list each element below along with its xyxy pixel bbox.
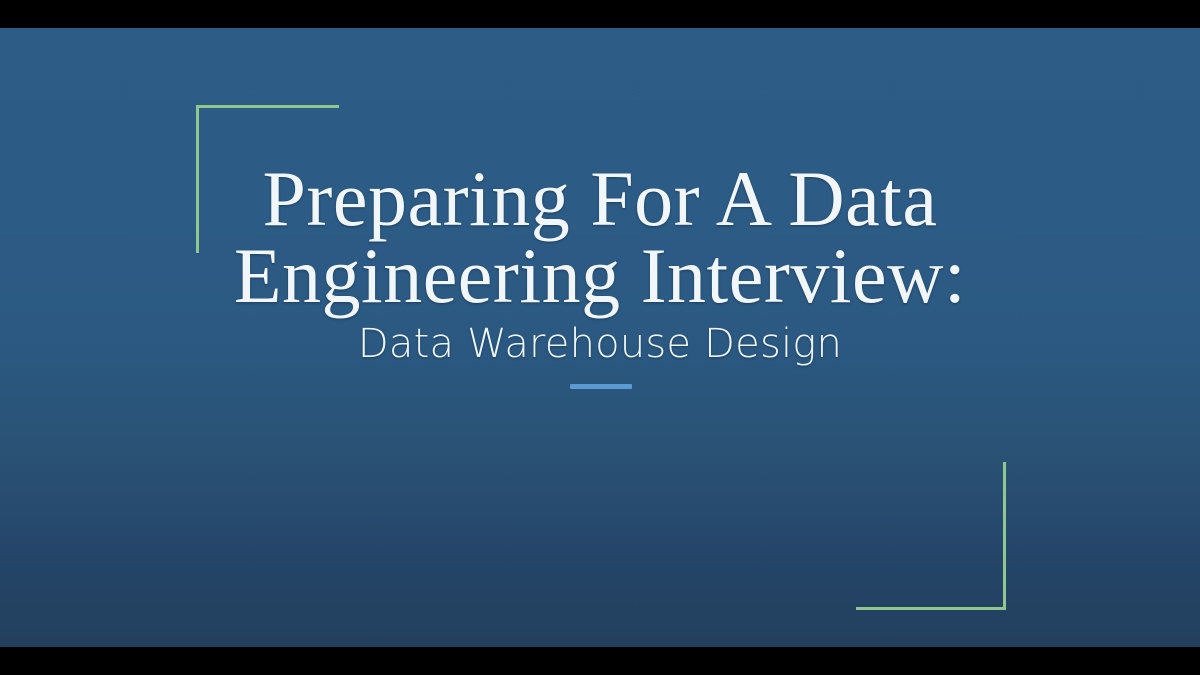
video-player-viewport: Preparing For A Data Engineering Intervi…: [0, 0, 1200, 675]
letterbox-bar-top: [0, 0, 1200, 28]
slide-title-line-1: Preparing For A Data: [0, 160, 1200, 238]
accent-divider: [570, 384, 632, 389]
presentation-title-slide: Preparing For A Data Engineering Intervi…: [0, 28, 1200, 647]
bottom-right-corner-bracket-icon: [856, 462, 1006, 610]
bracket-vertical-arm: [1003, 462, 1006, 610]
slide-title-line-2: Engineering Interview:: [0, 237, 1200, 315]
letterbox-bar-bottom: [0, 647, 1200, 675]
bracket-horizontal-arm: [856, 607, 1004, 610]
bracket-horizontal-arm: [196, 105, 339, 108]
slide-subtitle: Data Warehouse Design: [0, 322, 1200, 366]
